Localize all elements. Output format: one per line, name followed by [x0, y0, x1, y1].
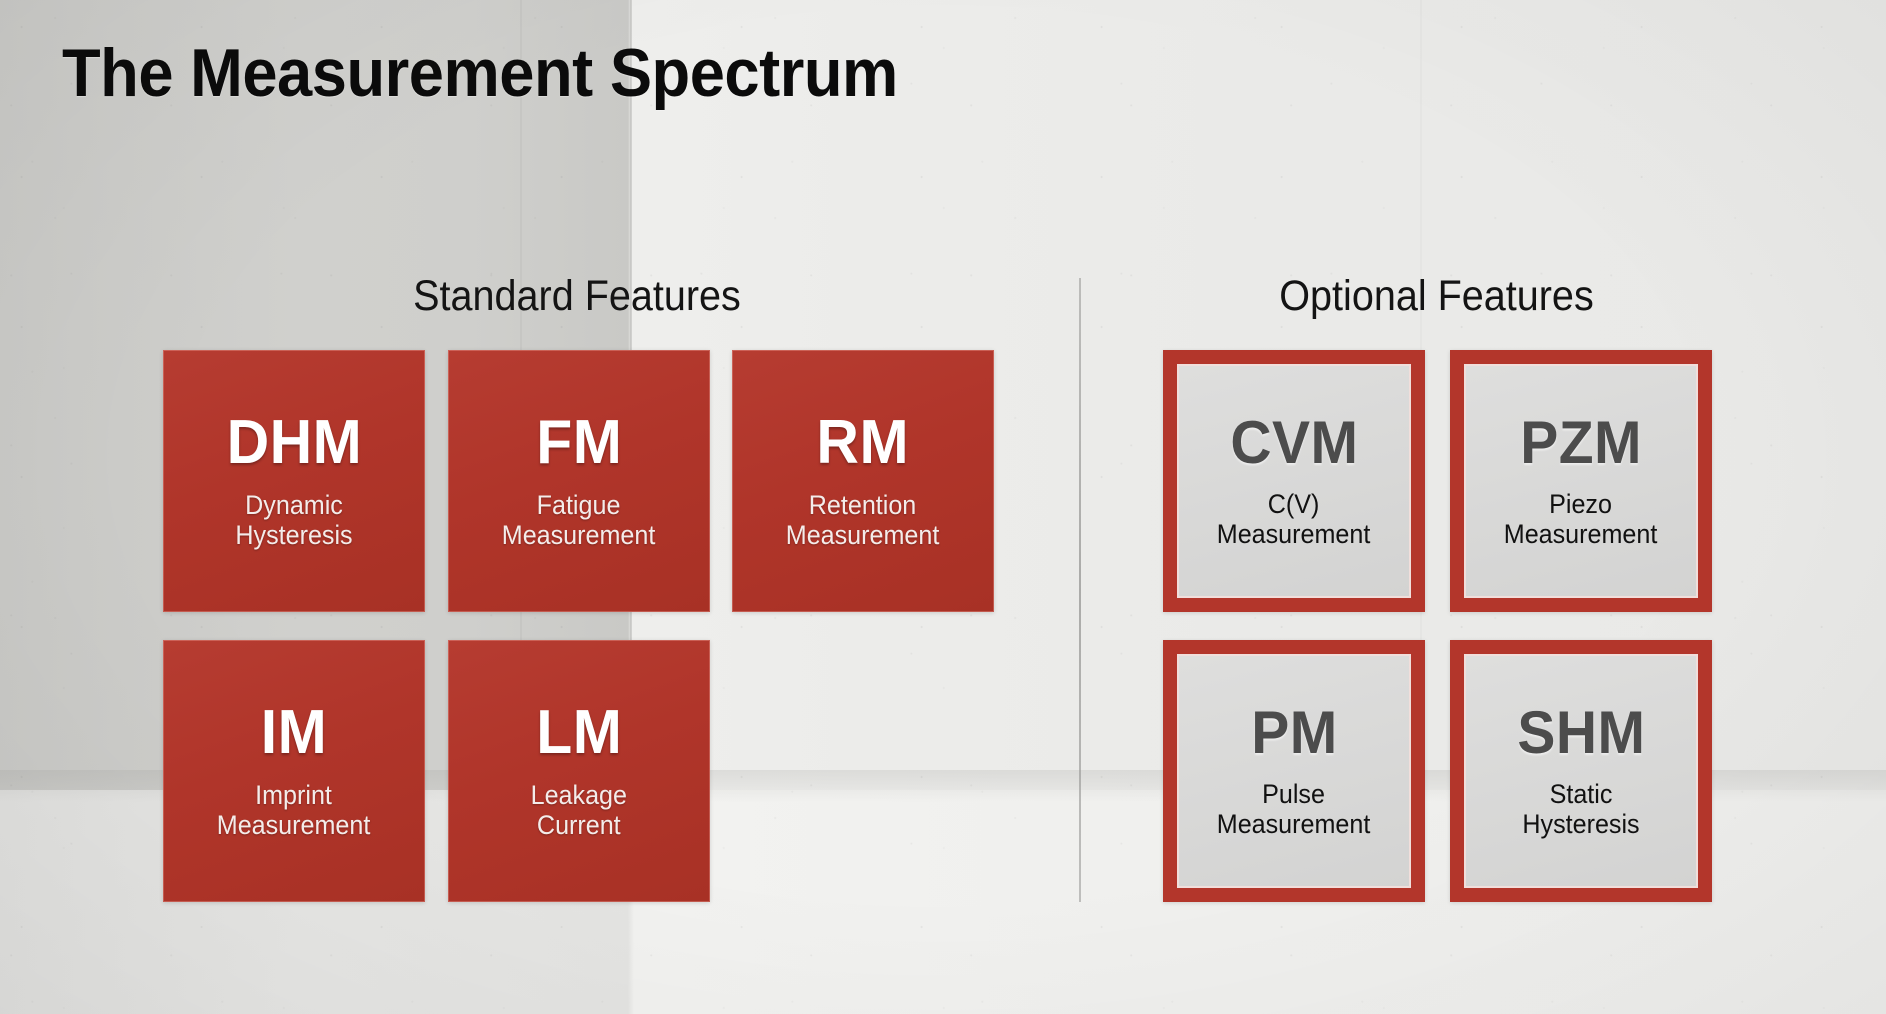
feature-tile-inner: SHM Static Hysteresis — [1464, 654, 1698, 888]
feature-subtitle-line2: Measurement — [1217, 519, 1371, 550]
feature-acronym: IM — [261, 702, 327, 764]
feature-subtitle-line2: Measurement — [1504, 519, 1658, 550]
feature-acronym: RM — [817, 412, 910, 474]
feature-subtitle-line1: C(V) — [1217, 489, 1371, 520]
feature-subtitle: Piezo Measurement — [1504, 489, 1658, 550]
feature-acronym: SHM — [1517, 703, 1645, 763]
feature-subtitle-line2: Current — [531, 810, 627, 841]
feature-subtitle: Pulse Measurement — [1217, 779, 1371, 840]
feature-subtitle-line1: Retention — [786, 490, 940, 521]
feature-tile-lm[interactable]: LM Leakage Current — [448, 640, 710, 902]
feature-tile-pm[interactable]: PM Pulse Measurement — [1163, 640, 1425, 902]
feature-subtitle: Dynamic Hysteresis — [235, 490, 352, 551]
feature-tile-rm[interactable]: RM Retention Measurement — [732, 350, 994, 612]
feature-subtitle: Imprint Measurement — [217, 780, 371, 841]
section-header-optional: Optional Features — [1185, 272, 1688, 321]
feature-tile-inner: PZM Piezo Measurement — [1464, 364, 1698, 598]
feature-subtitle-line2: Hysteresis — [1522, 809, 1639, 840]
feature-tile-inner: CVM C(V) Measurement — [1177, 364, 1411, 598]
feature-subtitle: Fatigue Measurement — [502, 490, 656, 551]
section-divider — [1079, 278, 1081, 902]
feature-subtitle: Static Hysteresis — [1522, 779, 1639, 840]
feature-subtitle-line1: Dynamic — [235, 490, 352, 521]
feature-subtitle-line1: Fatigue — [502, 490, 656, 521]
feature-subtitle: C(V) Measurement — [1217, 489, 1371, 550]
feature-subtitle: Retention Measurement — [786, 490, 940, 551]
feature-subtitle-line1: Piezo — [1504, 489, 1658, 520]
feature-tile-im[interactable]: IM Imprint Measurement — [163, 640, 425, 902]
feature-subtitle-line2: Hysteresis — [235, 520, 352, 551]
feature-tile-dhm[interactable]: DHM Dynamic Hysteresis — [163, 350, 425, 612]
feature-subtitle-line1: Pulse — [1217, 779, 1371, 810]
feature-tile-fm[interactable]: FM Fatigue Measurement — [448, 350, 710, 612]
feature-subtitle-line1: Static — [1522, 779, 1639, 810]
feature-acronym: CVM — [1230, 413, 1358, 473]
feature-subtitle-line2: Measurement — [1217, 809, 1371, 840]
feature-acronym: LM — [536, 702, 622, 764]
feature-tile-inner: PM Pulse Measurement — [1177, 654, 1411, 888]
feature-tile-shm[interactable]: SHM Static Hysteresis — [1450, 640, 1712, 902]
feature-acronym: PZM — [1520, 413, 1642, 473]
section-header-standard: Standard Features — [196, 272, 958, 321]
feature-acronym: DHM — [226, 412, 362, 474]
slide-canvas: The Measurement Spectrum Standard Featur… — [0, 0, 1886, 1014]
feature-subtitle-line2: Measurement — [502, 520, 656, 551]
feature-acronym: FM — [536, 412, 622, 474]
feature-subtitle-line2: Measurement — [217, 810, 371, 841]
feature-tile-cvm[interactable]: CVM C(V) Measurement — [1163, 350, 1425, 612]
feature-acronym: PM — [1251, 703, 1337, 763]
feature-subtitle-line1: Imprint — [217, 780, 371, 811]
feature-subtitle: Leakage Current — [531, 780, 627, 841]
feature-subtitle-line2: Measurement — [786, 520, 940, 551]
page-title: The Measurement Spectrum — [62, 34, 898, 112]
feature-subtitle-line1: Leakage — [531, 780, 627, 811]
feature-tile-pzm[interactable]: PZM Piezo Measurement — [1450, 350, 1712, 612]
